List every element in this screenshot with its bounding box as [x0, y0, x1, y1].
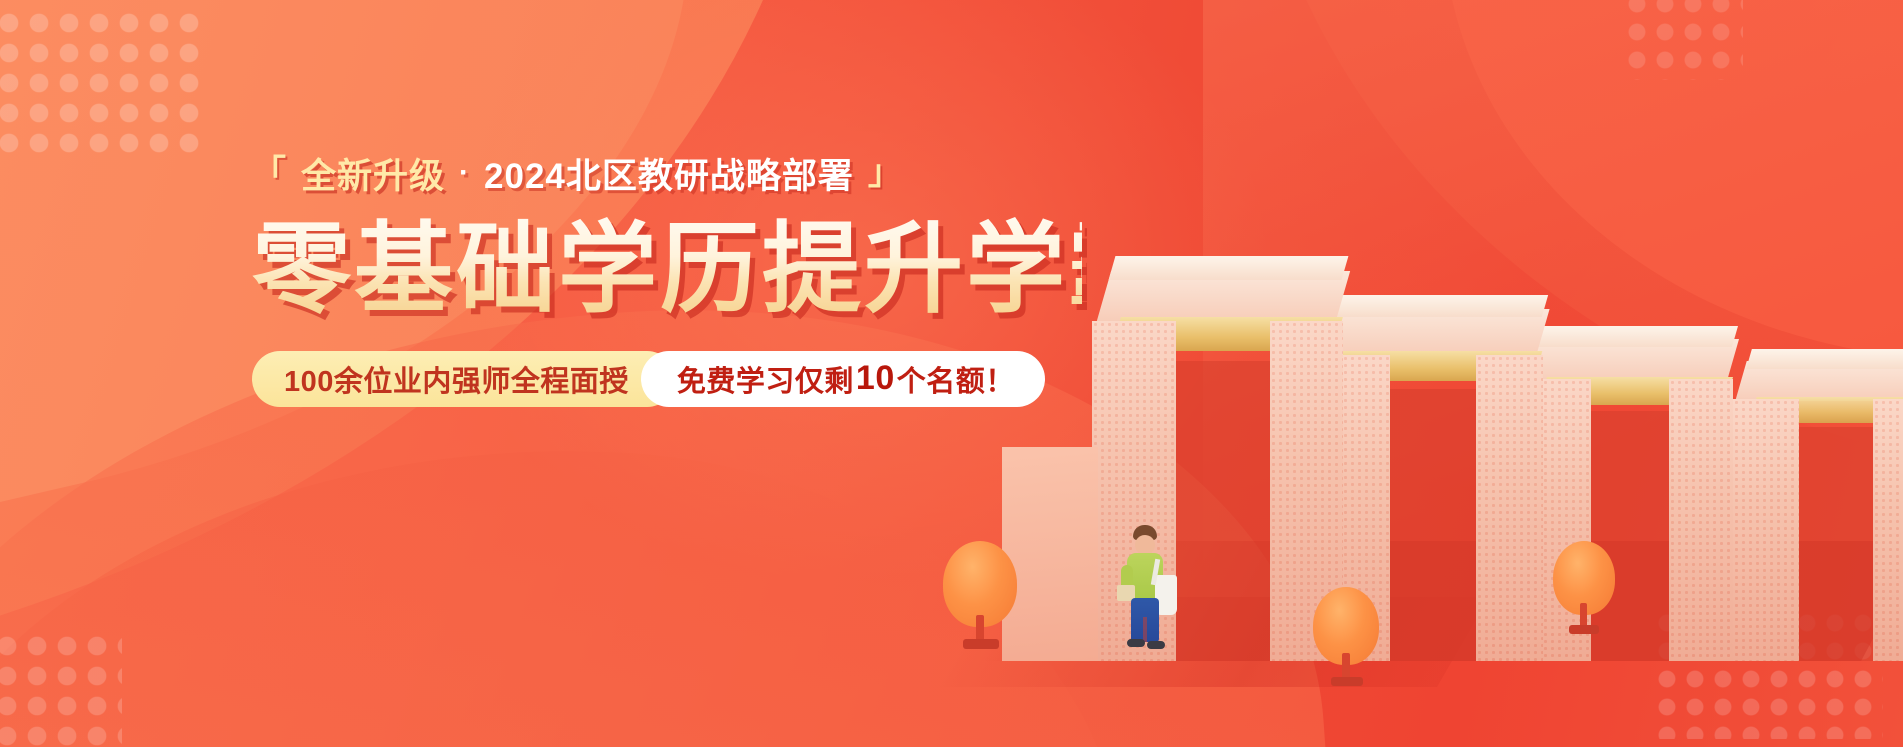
tree-trunk [1580, 603, 1587, 627]
arch-cap [1746, 349, 1903, 369]
arch-opening [1390, 389, 1476, 661]
arch-opening [1176, 361, 1270, 661]
banner-subtitle: 「 全新升级 · 2024北区教研战略部署 」 [252, 146, 1082, 200]
banner-feature-pills: 100余位业内强师全程面授 免费学习仅剩 10 个名额！ [252, 351, 952, 407]
tree-base [963, 639, 999, 649]
arch-cap [1331, 295, 1548, 317]
dot-grid-top-right [1623, 0, 1743, 80]
promo-banner: 「 全新升级 · 2024北区教研战略部署 」 零基础学历提升学霸班 100余位… [0, 0, 1903, 747]
figure-leg-gap [1143, 617, 1147, 642]
student-figure [1113, 525, 1183, 655]
bracket-open: 「 [252, 156, 287, 190]
banner-text-content: 「 全新升级 · 2024北区教研战略部署 」 零基础学历提升学霸班 100余位… [252, 146, 1082, 407]
pill-free-seats-prefix: 免费学习仅剩 [677, 358, 854, 400]
pill-free-seats-count: 10 [854, 359, 897, 398]
book-arch-4 [1723, 361, 1903, 661]
subtitle-highlight: 全新升级 [301, 148, 445, 199]
dot-grid-bottom-left [0, 631, 122, 747]
arch-right-leg [1476, 355, 1543, 661]
subtitle-separator: · [459, 156, 470, 190]
bracket-close: 」 [868, 156, 903, 190]
figure-shoe-left [1127, 639, 1145, 647]
arch-left-leg [1733, 399, 1799, 661]
book-arch-3 [1513, 339, 1733, 661]
subtitle-rest: 2024北区教研战略部署 [484, 148, 854, 199]
tree-right [1553, 541, 1615, 637]
pill-free-seats-suffix: 个名额！ [897, 358, 1015, 400]
banner-headline: 零基础学历提升学霸班 [252, 214, 1082, 325]
pill-free-seats[interactable]: 免费学习仅剩 10 个名额！ [641, 351, 1045, 407]
arch-right-leg [1669, 379, 1733, 661]
dot-grid-top-left [0, 8, 204, 153]
arch-cap [1536, 326, 1738, 347]
tree-base [1569, 625, 1599, 634]
tree-left [943, 541, 1017, 651]
tree-base [1331, 677, 1363, 686]
figure-head [1135, 535, 1155, 555]
arch-opening [1799, 427, 1873, 661]
figure-shoe-right [1147, 641, 1165, 649]
tree-trunk [1342, 653, 1350, 679]
arch-right-leg [1873, 399, 1903, 661]
tree-trunk [976, 615, 984, 641]
tree-mid [1313, 587, 1379, 687]
pill-instructors[interactable]: 100余位业内强师全程面授 [252, 351, 675, 407]
